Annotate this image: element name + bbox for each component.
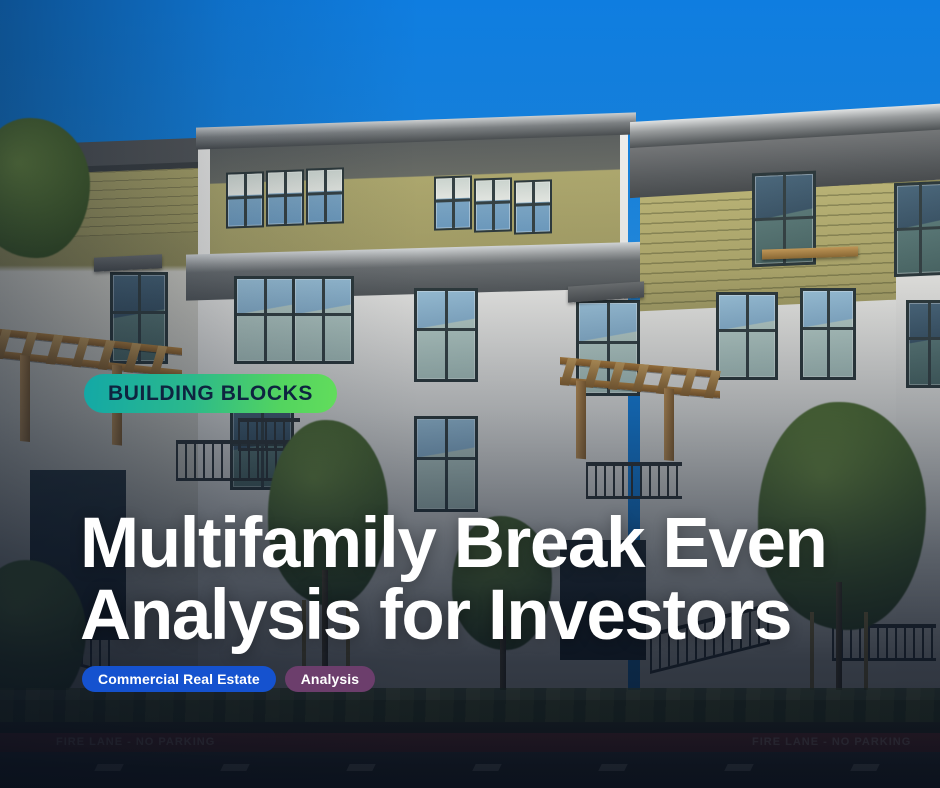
article-hero-card: FIRE LANE - NO PARKING FIRE LANE - NO PA… [0, 0, 940, 788]
tag-row: Commercial Real Estate Analysis [82, 666, 375, 692]
category-badge[interactable]: BUILDING BLOCKS [84, 374, 337, 413]
page-title: Multifamily Break Even Analysis for Inve… [80, 508, 880, 652]
page-title-line-1: Multifamily Break Even [80, 508, 880, 580]
tag-commercial-real-estate[interactable]: Commercial Real Estate [82, 666, 276, 692]
page-title-line-2: Analysis for Investors [80, 580, 880, 652]
hero-content: BUILDING BLOCKS Multifamily Break Even A… [0, 0, 940, 788]
tag-analysis[interactable]: Analysis [285, 666, 375, 692]
